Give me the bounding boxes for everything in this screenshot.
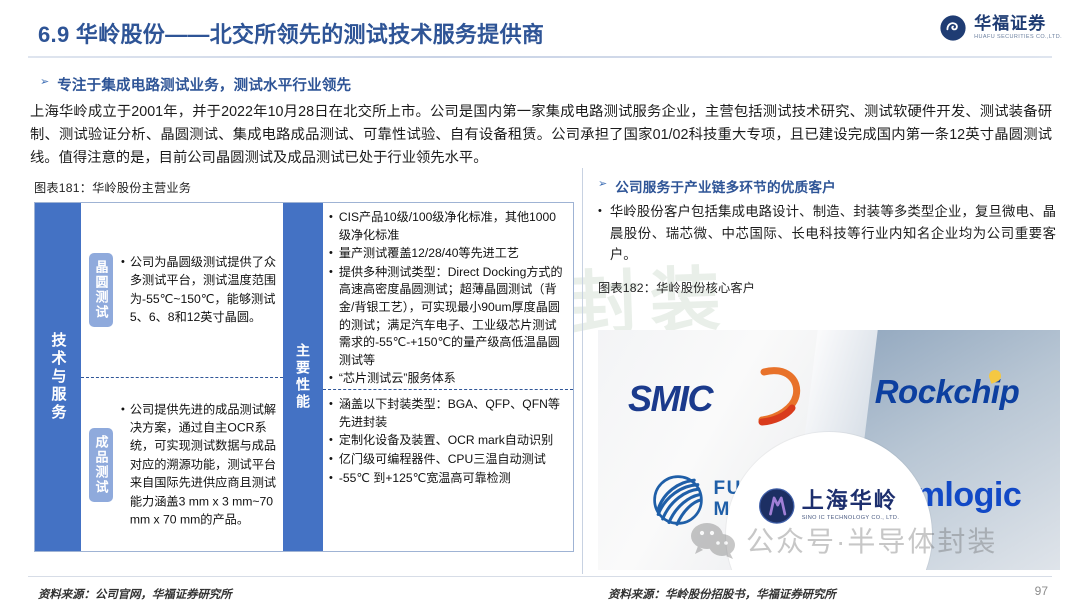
performance-column: • CIS产品10级/100级净化标准，其他1000级净化标准 • 量产测试覆盖… [323, 203, 573, 551]
list-item-text: “芯片测试云”服务体系 [339, 370, 456, 388]
bullet-dot-icon: • [329, 264, 333, 282]
column-divider [582, 168, 583, 574]
bullet-dot-icon: • [329, 451, 333, 469]
list-item: • 量产测试覆盖12/28/40等先进工艺 [329, 245, 565, 263]
company-logo: 华福证券 HUAFU SECURITIES CO.,LTD. [939, 8, 1062, 48]
sinoic-logo-icon [759, 488, 795, 524]
lead-section: ➢ 专注于集成电路测试业务，测试水平行业领先 上海华岭成立于2001年，并于20… [30, 74, 1052, 170]
row-chip: 成品测试 [89, 428, 113, 502]
performance-group-final-test: • 涵盖以下封装类型：BGA、QFP、QFN等先进封装 • 定制化设备及装置、O… [323, 389, 573, 551]
performance-label-bar: 主要性能 [283, 203, 323, 551]
bullet-dot-icon: • [598, 201, 602, 266]
row-description-text: 公司为晶圆级测试提供了众多测试平台，测试温度范围为-55℃~150℃，能够测试5… [130, 253, 277, 327]
figure-181-table: 技术与服务 晶圆测试 • 公司为晶圆级测试提供了众多测试平台，测试温度范围为-5… [34, 202, 574, 552]
page-number: 97 [1035, 584, 1048, 598]
list-item: • 提供多种测试类型：Direct Docking方式的高速高密度晶圆测试；超薄… [329, 264, 565, 370]
page-header: 6.9 华岭股份——北交所领先的测试技术服务提供商 华福证券 HUAFU SEC… [0, 0, 1080, 62]
bullet-dot-icon: • [329, 245, 333, 263]
table-row: 晶圆测试 • 公司为晶圆级测试提供了众多测试平台，测试温度范围为-55℃~150… [81, 203, 283, 377]
huafu-logo-icon [939, 14, 967, 42]
table-row: 成品测试 • 公司提供先进的成品测试解决方案，通过自主OCR系统，可实现测试数据… [81, 377, 283, 551]
row-chip: 晶圆测试 [89, 253, 113, 327]
brand-name-cn: 华福证券 [974, 15, 1046, 32]
bullet-dot-icon: • [329, 470, 333, 488]
performance-group-wafer: • CIS产品10级/100级净化标准，其他1000级净化标准 • 量产测试覆盖… [323, 203, 573, 389]
smic-logo-text: SMIC [628, 378, 712, 420]
bullet-dot-icon: • [329, 370, 333, 388]
fudan-globe-icon [651, 473, 705, 527]
bullet-dot-icon: • [121, 253, 125, 327]
list-item-text: 提供多种测试类型：Direct Docking方式的高速高密度晶圆测试；超薄晶圆… [339, 264, 565, 370]
list-item-text: 定制化设备及装置、OCR mark自动识别 [339, 432, 553, 450]
logo-rockchip: Rockchip [844, 352, 1050, 432]
row-chip-text: 晶圆测试 [92, 260, 111, 320]
logo-smic: SMIC [616, 354, 816, 440]
lead-paragraph: 上海华岭成立于2001年，并于2022年10月28日在北交所上市。公司是国内第一… [30, 101, 1052, 170]
brand-name-en: HUAFU SECURITIES CO.,LTD. [974, 35, 1062, 41]
subcategory-column: 晶圆测试 • 公司为晶圆级测试提供了众多测试平台，测试温度范围为-55℃~150… [81, 203, 283, 551]
smic-swoosh-icon [748, 366, 808, 428]
bullet-dot-icon: • [329, 209, 333, 227]
right-paragraph-row: • 华岭股份客户包括集成电路设计、制造、封装等多类型企业，复旦微电、晶晨股份、瑞… [598, 201, 1056, 266]
list-item-text: -55℃ 到+125℃宽温高可靠检测 [339, 470, 511, 488]
sinoic-badge-content: 上海华岭 SINO IC TECHNOLOGY CO., LTD. [759, 488, 899, 524]
bullet-dot-icon: • [121, 400, 125, 529]
arrow-bullet-icon: ➢ [40, 74, 49, 91]
list-item: • “芯片测试云”服务体系 [329, 370, 565, 388]
category-label-bar: 技术与服务 [35, 203, 81, 551]
row-description: • 公司提供先进的成品测试解决方案，通过自主OCR系统，可实现测试数据与成品对应… [121, 400, 277, 529]
list-item: • CIS产品10级/100级净化标准，其他1000级净化标准 [329, 209, 565, 244]
list-item: • 亿门级可编程器件、CPU三温自动测试 [329, 451, 565, 469]
right-panel: ➢ 公司服务于产业链多环节的优质客户 • 华岭股份客户包括集成电路设计、制造、封… [598, 176, 1056, 296]
figure-181-panel: 图表181：华岭股份主营业务 技术与服务 晶圆测试 • 公司为晶圆级测试提供了众… [30, 172, 578, 572]
list-item-text: CIS产品10级/100级净化标准，其他1000级净化标准 [339, 209, 565, 244]
figure-181-caption: 图表181：华岭股份主营业务 [34, 178, 191, 196]
performance-label-text: 主要性能 [293, 343, 313, 411]
page-title: 6.9 华岭股份——北交所领先的测试技术服务提供商 [38, 17, 544, 49]
sinoic-name-en: SINO IC TECHNOLOGY CO., LTD. [802, 516, 899, 522]
figure-182-caption: 图表182：华岭股份核心客户 [598, 278, 1056, 296]
right-heading-row: ➢ 公司服务于产业链多环节的优质客户 [598, 176, 1056, 196]
figure-182-source: 资料来源：华岭股份招股书，华福证券研究所 [608, 586, 836, 602]
list-item-text: 量产测试覆盖12/28/40等先进工艺 [339, 245, 519, 263]
figure-182-logo-collage: SMIC FUDAN MICRO [598, 330, 1060, 570]
lead-heading-row: ➢ 专注于集成电路测试业务，测试水平行业领先 [30, 74, 1052, 95]
row-description-text: 公司提供先进的成品测试解决方案，通过自主OCR系统，可实现测试数据与成品对应的溯… [130, 400, 277, 529]
right-heading: 公司服务于产业链多环节的优质客户 [615, 176, 836, 196]
list-item-text: 亿门级可编程器件、CPU三温自动测试 [339, 451, 546, 469]
row-description: • 公司为晶圆级测试提供了众多测试平台，测试温度范围为-55℃~150℃，能够测… [121, 253, 277, 327]
lead-heading: 专注于集成电路测试业务，测试水平行业领先 [57, 74, 351, 95]
list-item: • 涵盖以下封装类型：BGA、QFP、QFN等先进封装 [329, 396, 565, 431]
sinoic-name-cn: 上海华岭 [802, 490, 899, 512]
list-item-text: 涵盖以下封装类型：BGA、QFP、QFN等先进封装 [339, 396, 565, 431]
right-paragraph: 华岭股份客户包括集成电路设计、制造、封装等多类型企业，复旦微电、晶晨股份、瑞芯微… [610, 201, 1056, 266]
figure-181-source: 资料来源：公司官网，华福证券研究所 [38, 586, 232, 602]
bullet-dot-icon: • [329, 396, 333, 414]
amlogic-logo-text: mlogic [915, 476, 1022, 515]
footer-divider [28, 576, 1052, 577]
header-divider [28, 56, 1052, 58]
list-item: • -55℃ 到+125℃宽温高可靠检测 [329, 470, 565, 488]
category-label-text: 技术与服务 [48, 332, 69, 422]
list-item: • 定制化设备及装置、OCR mark自动识别 [329, 432, 565, 450]
bullet-dot-icon: • [329, 432, 333, 450]
row-chip-text: 成品测试 [92, 435, 111, 495]
arrow-bullet-icon: ➢ [598, 176, 607, 193]
